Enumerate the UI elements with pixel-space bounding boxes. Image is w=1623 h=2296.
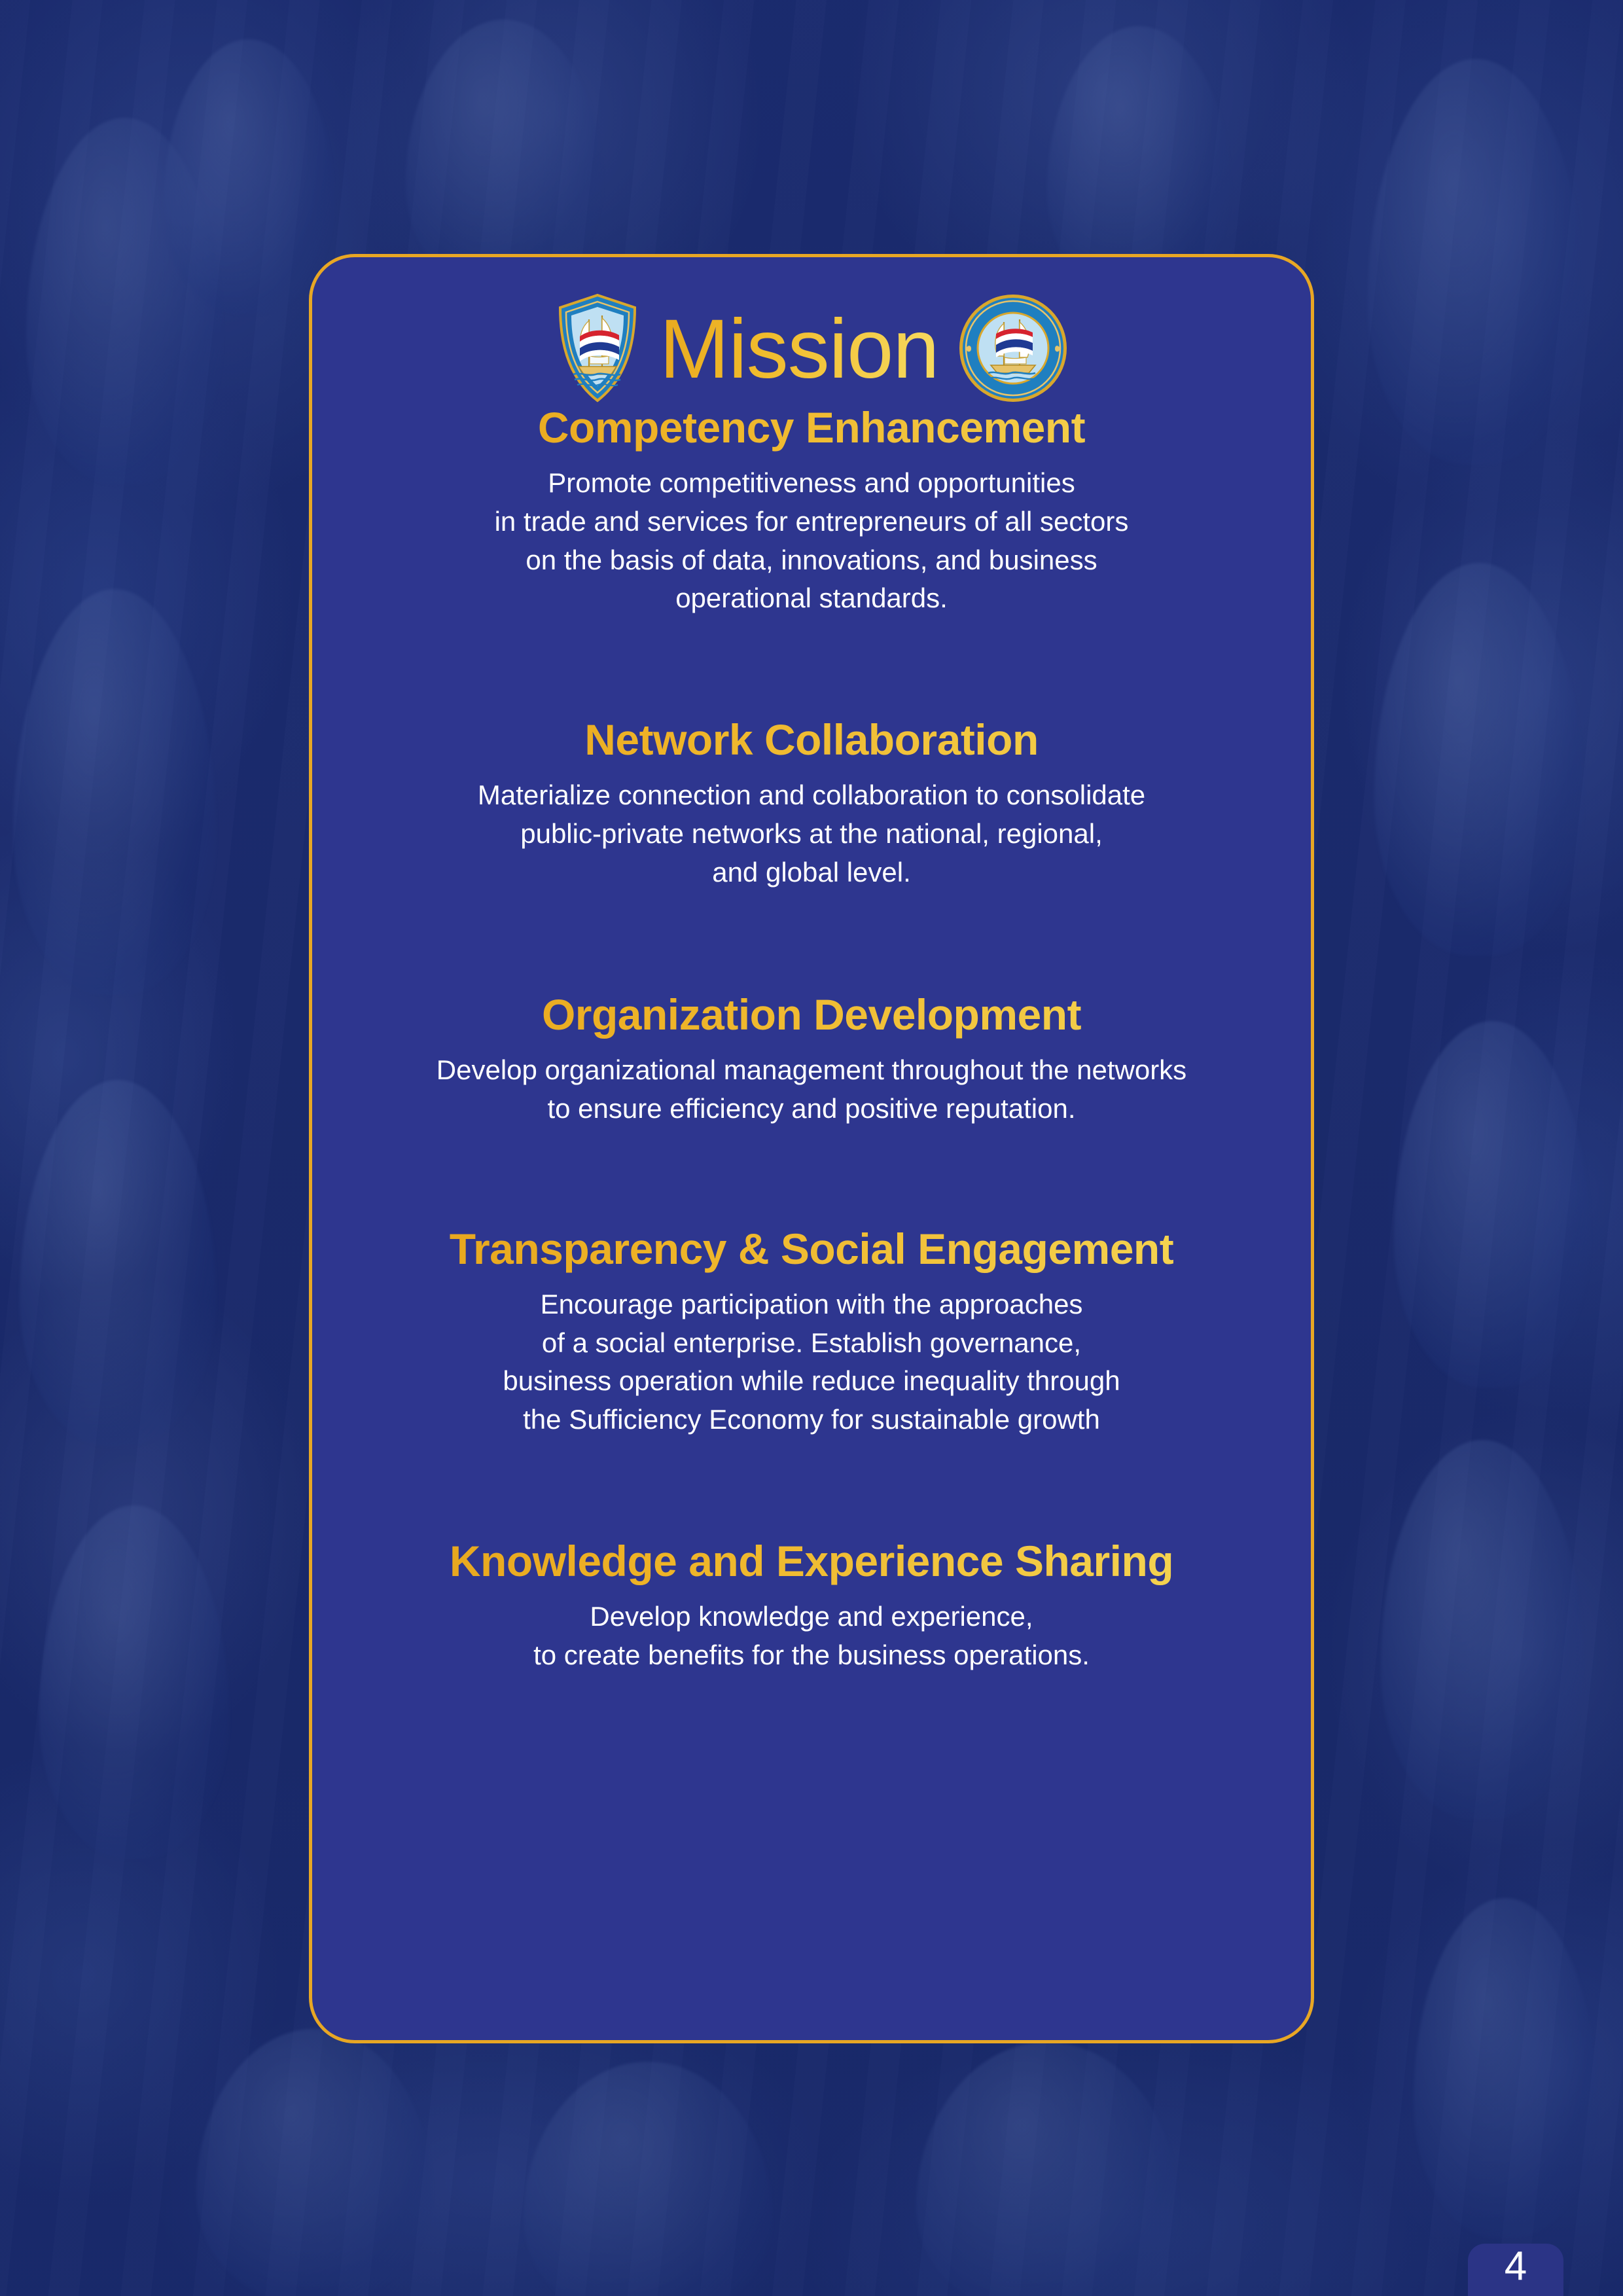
mission-sections: Competency Enhancement Promote competiti… [354,380,1269,1674]
section-heading-line: Transparency & Social [450,1225,906,1273]
mission-card: Mission [309,254,1314,2043]
section-heading-line: Engagement [918,1225,1173,1273]
section-body-line: to create benefits for the business oper… [354,1636,1269,1675]
section-body: Develop organizational management throug… [354,1051,1269,1128]
section-body: Encourage participation with the approac… [354,1285,1269,1439]
mission-section-knowledge-experience-sharing: Knowledge and Experience Sharing Develop… [354,1537,1269,1675]
section-spacer [354,618,1269,716]
section-spacer [354,1439,1269,1537]
mission-card-header: Mission [354,257,1269,380]
page-number-tab: 4 [1468,2244,1563,2296]
section-body-line: Promote competitiveness and opportunitie… [354,464,1269,503]
mission-section-transparency-social-engagement: Transparency & Social Engagement Encoura… [354,1225,1269,1439]
section-spacer [354,891,1269,991]
mission-section-network-collaboration: Network Collaboration Materialize connec… [354,716,1269,891]
section-body-line: Materialize connection and collaboration… [354,776,1269,815]
mission-section-competency-enhancement: Competency Enhancement Promote competiti… [354,404,1269,618]
section-body-line: on the basis of data, innovations, and b… [354,541,1269,580]
section-body-line: business operation while reduce inequali… [354,1362,1269,1401]
page-number: 4 [1505,2246,1527,2287]
section-body-line: Develop knowledge and experience, [354,1598,1269,1636]
section-heading: Transparency & Social Engagement [354,1225,1269,1274]
mission-page: Mission [0,0,1623,2296]
section-body: Promote competitiveness and opportunitie… [354,464,1269,618]
section-body-line: Develop organizational management throug… [354,1051,1269,1090]
section-body: Materialize connection and collaboration… [354,776,1269,891]
section-heading-line: Sharing [1015,1537,1173,1585]
section-body-line: to ensure efficiency and positive reputa… [354,1090,1269,1128]
section-body-line: and global level. [354,853,1269,892]
section-body-line: operational standards. [354,579,1269,618]
section-body-line: the Sufficiency Economy for sustainable … [354,1401,1269,1439]
section-spacer [354,1128,1269,1225]
section-body-line: of a social enterprise. Establish govern… [354,1324,1269,1363]
section-body: Develop knowledge and experience, to cre… [354,1598,1269,1675]
thai-chamber-of-commerce-shield-icon [555,293,640,406]
section-body-line: public-private networks at the national,… [354,815,1269,853]
board-of-trade-of-thailand-circle-icon [958,293,1068,406]
section-heading: Knowledge and Experience Sharing [354,1537,1269,1586]
section-body-line: Encourage participation with the approac… [354,1285,1269,1324]
mission-section-organization-development: Organization Development Develop organiz… [354,991,1269,1128]
section-body-line: in trade and services for entrepreneurs … [354,503,1269,541]
section-heading: Competency Enhancement [354,404,1269,452]
section-heading: Organization Development [354,991,1269,1039]
section-heading-line: Knowledge and Experience [450,1537,1003,1585]
page-title: Mission [652,308,947,391]
section-heading: Network Collaboration [354,716,1269,764]
